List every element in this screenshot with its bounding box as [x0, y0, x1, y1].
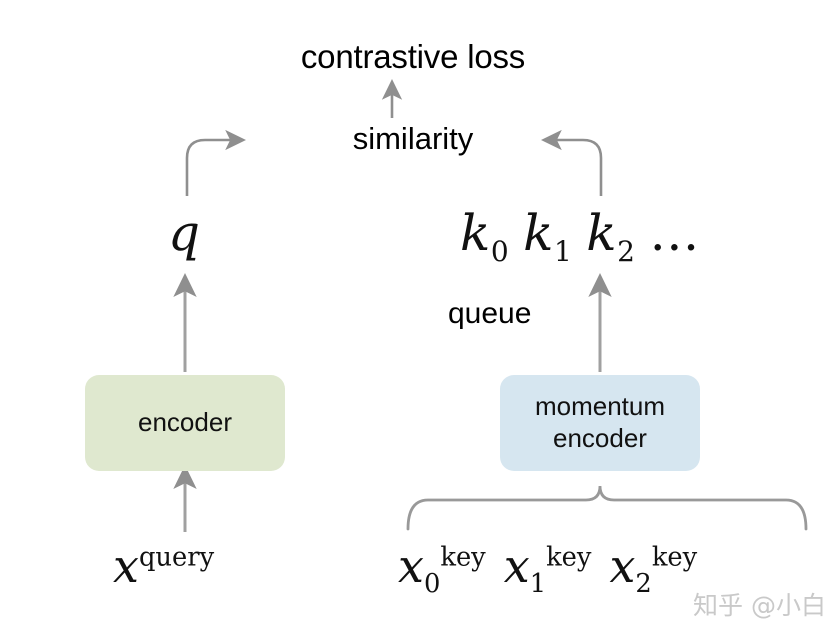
key-inputs-row: x0keyx1keyx2key: [398, 543, 715, 598]
queue-label: queue: [448, 299, 531, 329]
key-representations-ellipsis: …: [649, 204, 701, 262]
key-representations-row: k0k1k2…: [460, 208, 701, 266]
watermark: 知乎 @小白: [693, 586, 826, 622]
key-input-1: x1key: [504, 539, 592, 593]
query-representation-symbol: q: [168, 208, 200, 258]
brace-key-inputs: [408, 486, 806, 529]
contrastive-loss-label: contrastive loss: [0, 40, 826, 73]
momentum-encoder-box[interactable]: momentumencoder: [500, 375, 700, 471]
q-base: q: [168, 204, 200, 262]
key-representation-0: k0: [460, 204, 509, 262]
momentum-encoder-box-label: momentumencoder: [535, 391, 665, 454]
encoder-box-label: encoder: [138, 407, 232, 439]
diagram-canvas: contrastive loss similarity queue q k0k1…: [0, 0, 826, 634]
key-input-0: x0key: [398, 539, 486, 593]
key-representation-1: k1: [523, 204, 572, 262]
similarity-label: similarity: [0, 123, 826, 154]
query-input-label: xquery: [113, 543, 214, 589]
key-input-2: x2key: [609, 539, 697, 593]
key-representation-2: k2: [586, 204, 635, 262]
encoder-box[interactable]: encoder: [85, 375, 285, 471]
